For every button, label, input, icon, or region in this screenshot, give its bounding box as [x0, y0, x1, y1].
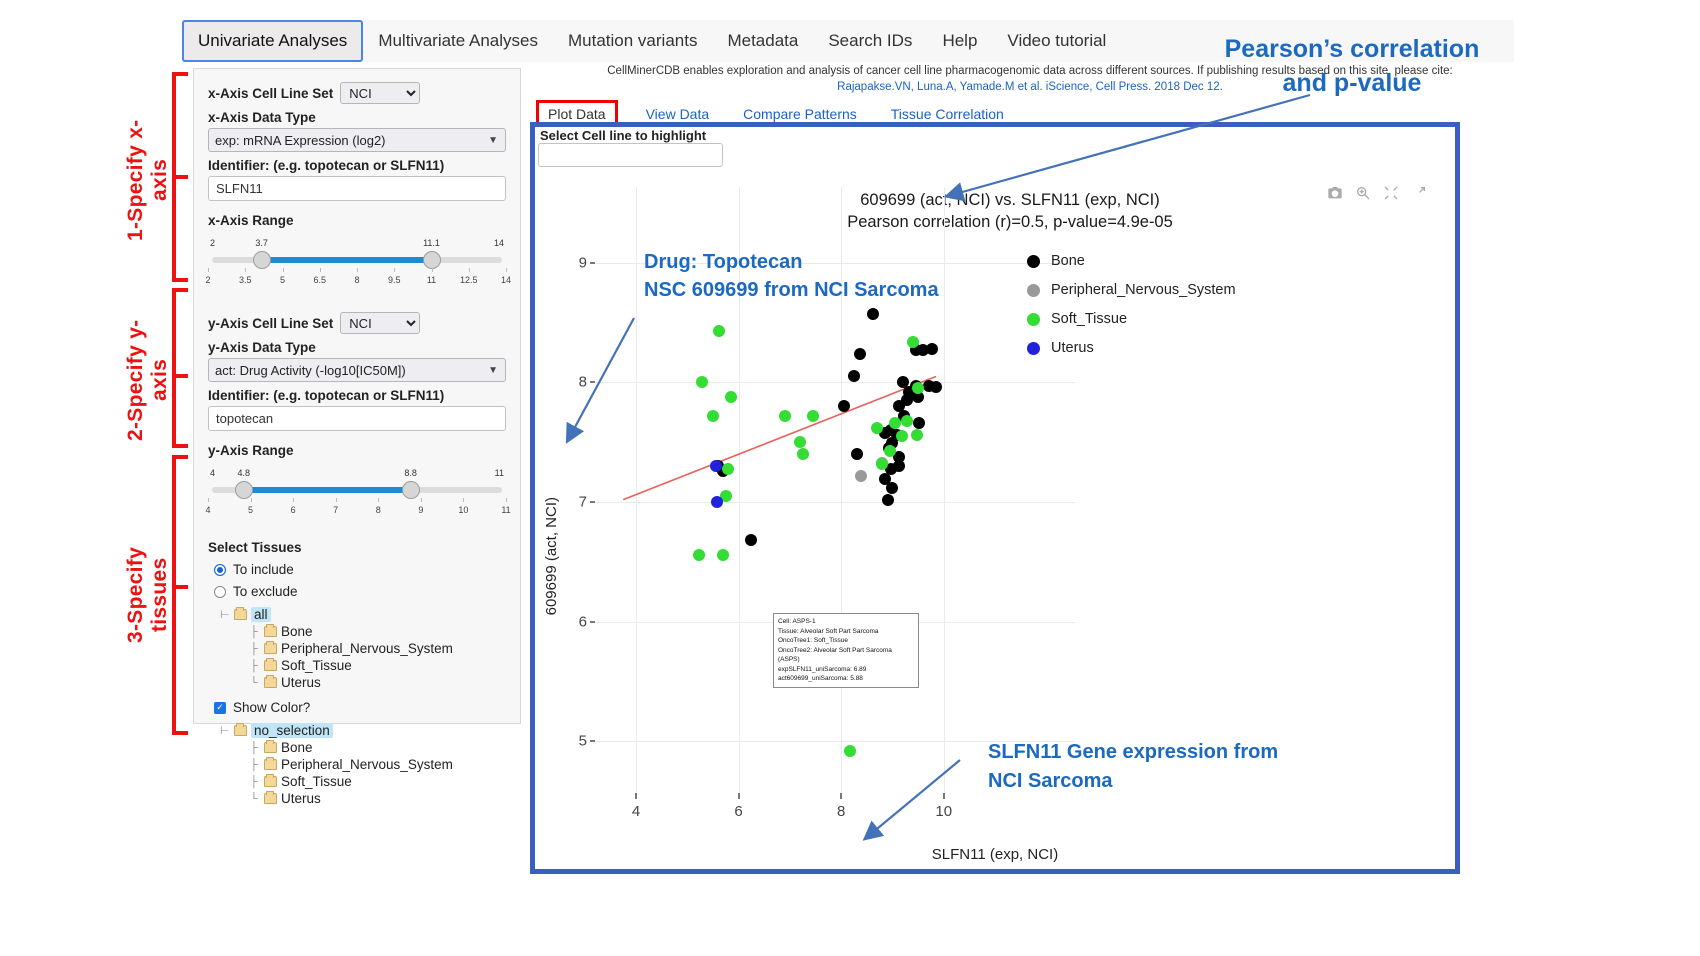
pearson-arrow [0, 0, 1700, 956]
